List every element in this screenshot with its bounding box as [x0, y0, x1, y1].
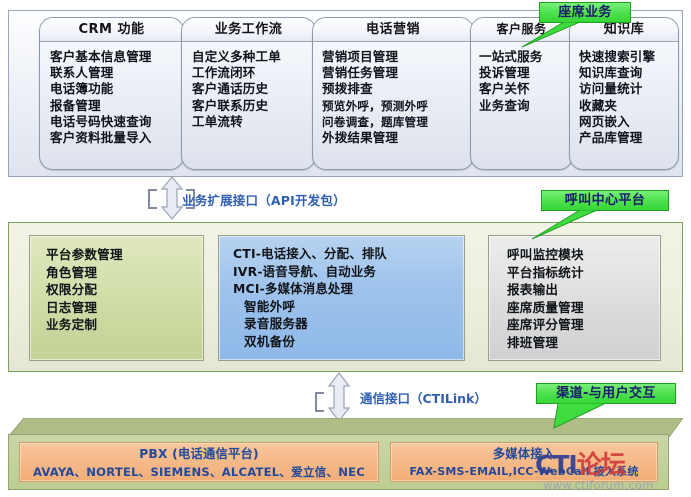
list-item: CTI-电话接入、分配、排队: [233, 245, 464, 263]
list-item: 预览外呼，预测外呼: [322, 98, 473, 114]
list-item: 座席质量管理: [507, 299, 660, 317]
card-telemarketing[interactable]: 电话营销 营销项目管理 营销任务管理 预拨排查 预览外呼，预测外呼 问卷调查，题…: [312, 17, 474, 170]
list-item: 工作流闭环: [192, 65, 315, 81]
callout-agent-business-label: 座席业务: [558, 5, 612, 20]
list-item: 平台指标统计: [507, 264, 660, 282]
list-item: 网页嵌入: [579, 114, 678, 130]
api-double-arrow-icon: [160, 176, 184, 220]
list-item: 外拨结果管理: [322, 130, 473, 146]
card-customer-service-items: 一站式服务 投诉管理 客户关怀 业务查询: [471, 42, 572, 118]
list-item: 排班管理: [507, 334, 660, 352]
callout-agent-business-tail: [518, 22, 580, 48]
list-item: 录音服务器: [244, 315, 464, 333]
list-item: 业务查询: [479, 98, 572, 114]
call-center-platform-band: 平台参数管理 角色管理 权限分配 日志管理 业务定制 CTI-电话接入、分配、排…: [8, 222, 683, 372]
callout-channel: 渠道-与用户交互: [536, 383, 676, 404]
list-item: 双机备份: [244, 333, 464, 351]
list-item: 呼叫监控模块: [507, 246, 660, 264]
channel-box-pbx-title: PBX (电话通信平台): [20, 445, 378, 463]
list-item: 智能外呼: [244, 298, 464, 316]
watermark-url: www.ctiforum.com: [543, 478, 654, 492]
list-item: 角色管理: [46, 264, 203, 282]
watermark-brand-en: CTI: [535, 450, 577, 479]
list-item: 投诉管理: [479, 65, 572, 81]
list-item: 客户联系历史: [192, 98, 315, 114]
card-knowledge-base-items: 快速搜索引擎 知识库查询 访问量统计 收藏夹 网页嵌入 产品库管理: [570, 42, 678, 150]
api-bracket-left: [148, 189, 157, 209]
list-item: 客户基本信息管理: [50, 49, 183, 65]
list-item: 快速搜索引擎: [579, 49, 678, 65]
ctilink-bracket-left: [315, 392, 324, 412]
list-item: 访问量统计: [579, 81, 678, 97]
list-item: 客户关怀: [479, 81, 572, 97]
api-interface-label: 业务扩展接口（API开发包）: [182, 190, 346, 209]
list-item: 平台参数管理: [46, 246, 203, 264]
panel-platform-management[interactable]: 平台参数管理 角色管理 权限分配 日志管理 业务定制: [29, 235, 204, 361]
callout-agent-business: 座席业务: [539, 2, 631, 23]
callout-call-center-platform: 呼叫中心平台: [541, 190, 669, 211]
diagram-canvas: CRM 功能 客户基本信息管理 联系人管理 电话簿功能 报备管理 电话号码快速查…: [0, 0, 691, 497]
list-item: 日志管理: [46, 299, 203, 317]
list-item: 预拨排查: [322, 81, 473, 97]
card-telemarketing-title: 电话营销: [313, 18, 473, 42]
agent-business-band: CRM 功能 客户基本信息管理 联系人管理 电话簿功能 报备管理 电话号码快速查…: [8, 10, 683, 177]
list-item: 客户通话历史: [192, 81, 315, 97]
list-item: 报备管理: [50, 98, 183, 114]
list-item: 电话号码快速查询: [50, 114, 183, 130]
card-workflow[interactable]: 业务工作流 自定义多种工单 工作流闭环 客户通话历史 客户联系历史 工单流转: [181, 17, 316, 170]
list-item: IVR-语音导航、自动业务: [233, 263, 464, 281]
list-item: 工单流转: [192, 114, 315, 130]
ctilink-interface-label: 通信接口（CTILink）: [360, 388, 487, 407]
list-item: 收藏夹: [579, 98, 678, 114]
callout-call-center-platform-label: 呼叫中心平台: [565, 193, 645, 208]
card-workflow-items: 自定义多种工单 工作流闭环 客户通话历史 客户联系历史 工单流转: [182, 42, 315, 134]
panel-monitoring[interactable]: 呼叫监控模块 平台指标统计 报表输出 座席质量管理 座席评分管理 排班管理: [488, 235, 661, 361]
list-item: 电话簿功能: [50, 81, 183, 97]
list-item: 自定义多种工单: [192, 49, 315, 65]
channel-box-pbx[interactable]: PBX (电话通信平台) AVAYA、NORTEL、SIEMENS、ALCATE…: [19, 442, 379, 482]
list-item: 知识库查询: [579, 65, 678, 81]
list-item: 客户资料批量导入: [50, 130, 183, 146]
callout-call-center-platform-tail: [528, 210, 598, 240]
list-item: 业务定制: [46, 316, 203, 334]
list-item: 营销项目管理: [322, 49, 473, 65]
list-item: 座席评分管理: [507, 316, 660, 334]
channel-box-pbx-vendors: AVAYA、NORTEL、SIEMENS、ALCATEL、爱立信、NEC: [20, 463, 378, 481]
list-item: 权限分配: [46, 281, 203, 299]
list-item: 报表输出: [507, 281, 660, 299]
card-telemarketing-items: 营销项目管理 营销任务管理 预拨排查 预览外呼，预测外呼 问卷调查，题库管理 外…: [313, 42, 473, 150]
panel-cti-core[interactable]: CTI-电话接入、分配、排队 IVR-语音导航、自动业务 MCI-多媒体消息处理…: [218, 235, 465, 361]
card-crm-title: CRM 功能: [40, 18, 183, 42]
list-item: 一站式服务: [479, 49, 572, 65]
watermark: CTI论坛 www.ctiforum.com: [535, 451, 687, 495]
list-item: MCI-多媒体消息处理: [233, 280, 464, 298]
card-crm-items: 客户基本信息管理 联系人管理 电话簿功能 报备管理 电话号码快速查询 客户资料批…: [40, 42, 183, 150]
list-item: 问卷调查，题库管理: [322, 114, 473, 130]
callout-channel-tail: [548, 403, 618, 429]
watermark-brand-cn: 论坛: [577, 450, 625, 479]
ctilink-double-arrow-icon: [327, 372, 351, 422]
card-knowledge-base[interactable]: 知识库 快速搜索引擎 知识库查询 访问量统计 收藏夹 网页嵌入 产品库管理: [569, 17, 679, 170]
agent-business-card-list: CRM 功能 客户基本信息管理 联系人管理 电话簿功能 报备管理 电话号码快速查…: [9, 11, 682, 176]
callout-channel-label: 渠道-与用户交互: [556, 386, 656, 401]
list-item: 营销任务管理: [322, 65, 473, 81]
card-crm[interactable]: CRM 功能 客户基本信息管理 联系人管理 电话簿功能 报备管理 电话号码快速查…: [39, 17, 184, 170]
list-item: 产品库管理: [579, 130, 678, 146]
list-item: 联系人管理: [50, 65, 183, 81]
card-workflow-title: 业务工作流: [182, 18, 315, 42]
watermark-brand: CTI论坛: [535, 451, 625, 478]
